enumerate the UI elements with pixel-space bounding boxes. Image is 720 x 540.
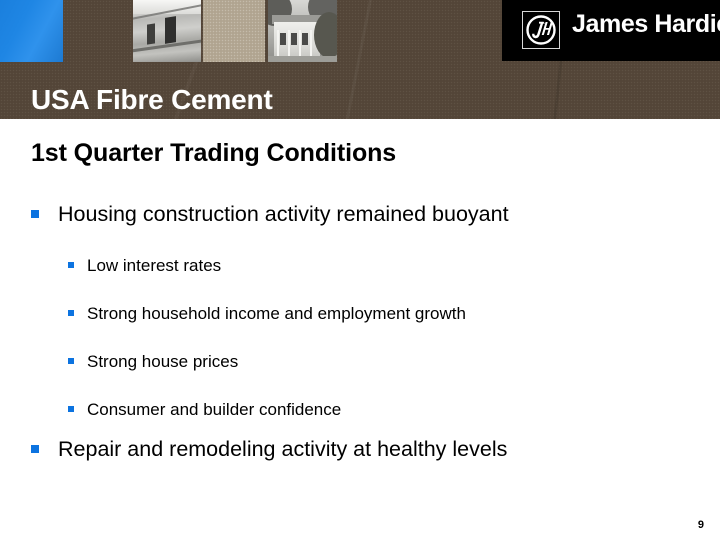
slide-subheading: 1st Quarter Trading Conditions bbox=[31, 139, 396, 168]
slide-header-band: James Hardie® USA Fibre Cement bbox=[0, 0, 720, 119]
bullet-text: Low interest rates bbox=[87, 256, 221, 276]
photo-window-2 bbox=[291, 33, 297, 45]
photo-panel-right bbox=[165, 16, 176, 44]
photo-column-2 bbox=[288, 30, 290, 58]
bullet-marker-icon bbox=[68, 310, 74, 316]
brand-name-text: James Hardie bbox=[572, 10, 720, 38]
photo-column-3 bbox=[299, 30, 301, 58]
photo-panel-left bbox=[147, 23, 155, 44]
photo-ground bbox=[268, 56, 337, 62]
photo-column-1 bbox=[277, 30, 279, 58]
bullet-marker-icon bbox=[68, 262, 74, 268]
bullet-item-level1: Housing construction activity remained b… bbox=[31, 202, 509, 227]
bullet-text: Housing construction activity remained b… bbox=[58, 202, 509, 227]
bullet-text: Strong house prices bbox=[87, 352, 238, 372]
bullet-marker-icon bbox=[31, 445, 39, 453]
brand-wordmark: James Hardie® bbox=[572, 12, 720, 37]
bullet-item-level2: Consumer and builder confidence bbox=[68, 400, 341, 420]
bullet-item-level1: Repair and remodeling activity at health… bbox=[31, 437, 507, 462]
jh-monogram-icon bbox=[522, 11, 560, 49]
bullet-marker-icon bbox=[68, 406, 74, 412]
slide-title: USA Fibre Cement bbox=[31, 84, 273, 116]
bullet-item-level2: Strong house prices bbox=[68, 352, 238, 372]
bullet-text: Repair and remodeling activity at health… bbox=[58, 437, 507, 462]
header-tile-finished-house-photo bbox=[268, 0, 337, 62]
photo-window-1 bbox=[280, 33, 286, 45]
header-tile-house-construction-photo bbox=[133, 0, 201, 62]
bullet-marker-icon bbox=[68, 358, 74, 364]
photo-window-3 bbox=[302, 33, 308, 45]
bullet-marker-icon bbox=[31, 210, 39, 218]
bullet-text: Consumer and builder confidence bbox=[87, 400, 341, 420]
slide-body: 1st Quarter Trading Conditions Housing c… bbox=[0, 119, 720, 540]
bullet-item-level2: Low interest rates bbox=[68, 256, 221, 276]
james-hardie-logo: James Hardie® bbox=[502, 0, 720, 61]
header-tile-blue-panel bbox=[0, 0, 63, 62]
photo-tree-foreground bbox=[314, 12, 337, 58]
bullet-text: Strong household income and employment g… bbox=[87, 304, 466, 324]
photo-column-4 bbox=[310, 30, 312, 58]
header-image-strip: James Hardie® bbox=[0, 0, 720, 62]
bullet-item-level2: Strong household income and employment g… bbox=[68, 304, 466, 324]
presentation-slide: James Hardie® USA Fibre Cement 1st Quart… bbox=[0, 0, 720, 540]
header-tile-fibre-cement-swatch bbox=[203, 0, 265, 62]
page-number: 9 bbox=[698, 519, 704, 531]
